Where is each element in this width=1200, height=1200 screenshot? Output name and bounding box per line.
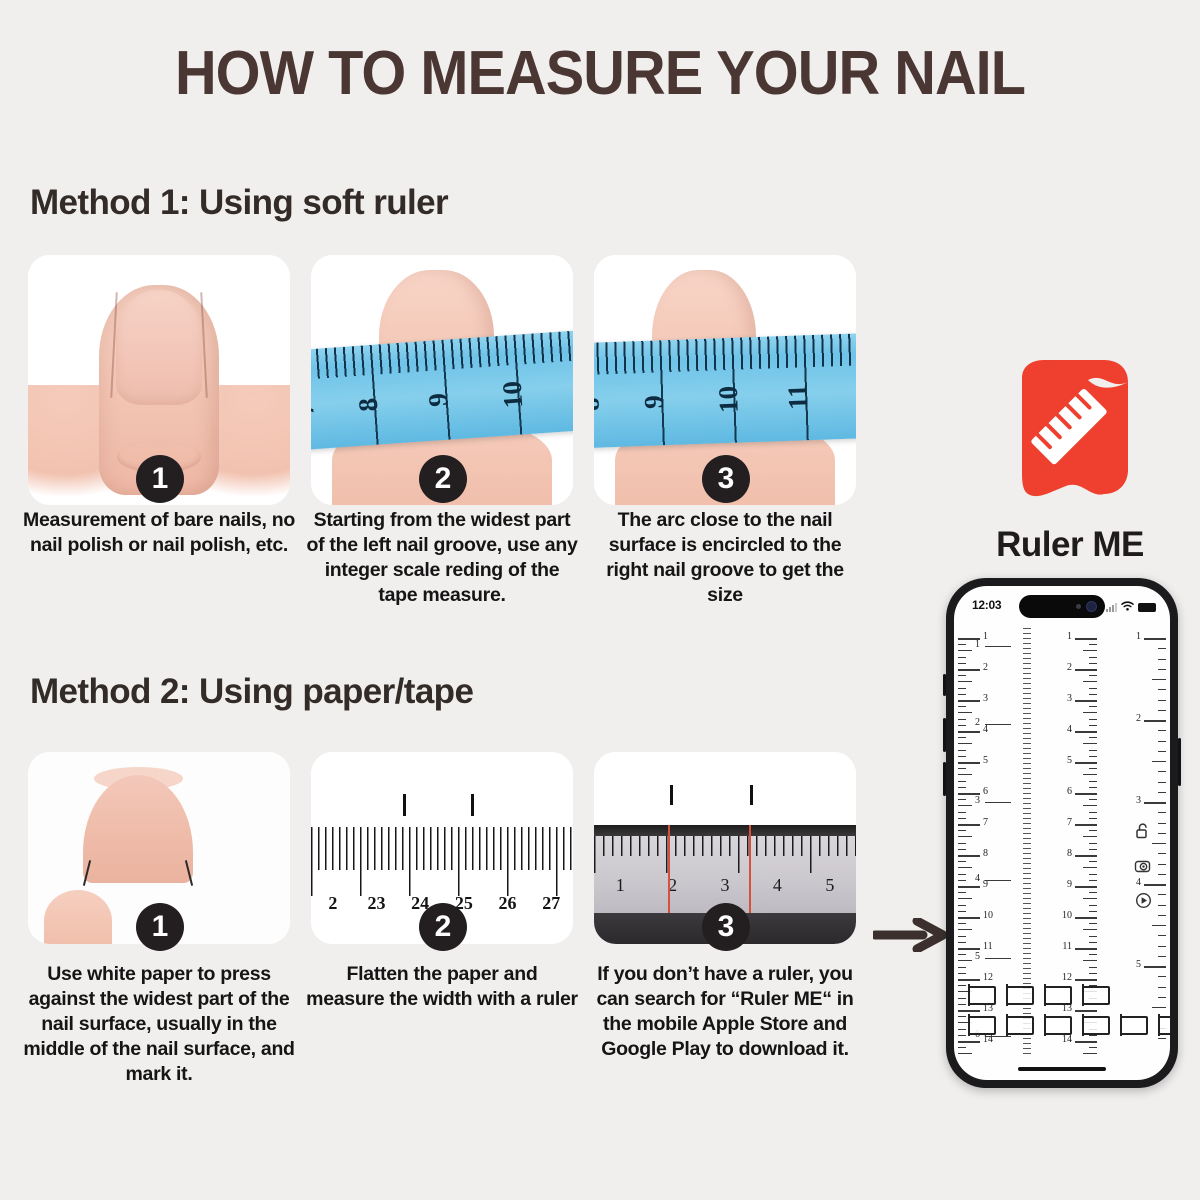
- ruler-minor-tick: [958, 1004, 966, 1005]
- right-arrow-icon: [873, 918, 953, 952]
- ruler-minor-tick: [1158, 812, 1166, 813]
- ruler-minor-tick: [1152, 679, 1166, 680]
- phone-volume-down-button[interactable]: [943, 762, 946, 796]
- ruler-minor-tick: [958, 706, 966, 707]
- ruler-minor-tick: [1089, 818, 1097, 819]
- ruler-major-tick: [958, 1041, 980, 1043]
- dynamic-island: [1019, 595, 1105, 618]
- ruler-number: 6: [983, 786, 988, 797]
- ruler-minor-tick: [958, 768, 966, 769]
- status-bar-indicators: [1106, 598, 1156, 616]
- ruler-number: 10: [983, 910, 993, 921]
- method-2-step-1-caption: Use white paper to press against the wid…: [23, 962, 295, 1087]
- ruler-minor-tick: [1158, 853, 1166, 854]
- ruler-major-tick: [1075, 1041, 1097, 1043]
- ruler-number: 6: [1067, 786, 1072, 797]
- ruler-minor-tick: [1089, 694, 1097, 695]
- ruler-minor-tick: [958, 1047, 966, 1048]
- ruler-minor-tick: [958, 849, 966, 850]
- ruler-minor-tick: [1158, 1038, 1166, 1039]
- ruler-minor-tick: [958, 663, 966, 664]
- ruler-minor-tick: [958, 812, 966, 813]
- phone-screen[interactable]: 12:03 1234567891011121314 12345678910111…: [954, 586, 1170, 1080]
- ruler-minor-tick: [1083, 960, 1097, 961]
- ruler-number: 4: [751, 875, 803, 896]
- ruler-minor-tick: [1089, 942, 1097, 943]
- ruler-major-tick: [1075, 917, 1097, 919]
- ruler-major-tick: [958, 669, 980, 671]
- battery-icon: [1138, 603, 1156, 612]
- ruler-minor-tick: [1152, 843, 1166, 844]
- measurement-widget-row-top[interactable]: [968, 986, 1110, 1005]
- ruler-minor-tick: [1158, 792, 1166, 793]
- poster-root: HOW TO MEASURE YOUR NAIL Method 1: Using…: [0, 0, 1200, 1200]
- ruler-number: 1: [1136, 631, 1141, 642]
- ruler-minor-tick: [958, 936, 966, 937]
- ruler-major-tick: [958, 731, 980, 733]
- ruler-major-tick: [958, 855, 980, 857]
- ruler-major-tick: [985, 1036, 1011, 1037]
- ruler-minor-tick: [958, 719, 966, 720]
- ruler-minor-tick: [1152, 1007, 1166, 1008]
- ruler-number: 27: [529, 893, 573, 914]
- ruler-minor-tick: [958, 905, 966, 906]
- page-title: HOW TO MEASURE YOUR NAIL: [42, 38, 1158, 109]
- ruler-number: 23: [355, 893, 399, 914]
- ruler-minor-tick: [1083, 712, 1097, 713]
- metal-ruler-numbers: 12345: [594, 875, 856, 896]
- ruler-number: 3: [975, 795, 980, 806]
- ruler-minor-tick: [958, 681, 972, 682]
- ruler-minor-tick: [958, 985, 966, 986]
- camera-icon[interactable]: [1134, 858, 1152, 879]
- ruler-minor-tick: [1089, 911, 1097, 912]
- ruler-minor-tick: [958, 954, 966, 955]
- ruler-number: 5: [1136, 959, 1141, 970]
- ruler-major-tick: [1075, 700, 1097, 702]
- ruler-minor-tick: [1158, 659, 1166, 660]
- ruler-number: 2: [646, 875, 698, 896]
- ruler-minor-tick: [958, 836, 972, 837]
- ruler-minor-tick: [1089, 861, 1097, 862]
- ruler-minor-tick: [1089, 830, 1097, 831]
- ruler-minor-tick: [958, 911, 966, 912]
- phone-power-button[interactable]: [1178, 738, 1181, 786]
- ruler-minor-tick: [1083, 867, 1097, 868]
- ruler-number: 7: [1067, 817, 1072, 828]
- ruler-minor-tick: [958, 861, 966, 862]
- ruler-minor-tick: [1089, 768, 1097, 769]
- ruler-minor-tick: [1158, 771, 1166, 772]
- ruler-minor-tick: [958, 799, 966, 800]
- ruler-minor-tick: [1089, 725, 1097, 726]
- ruler-number: 9: [1067, 879, 1072, 890]
- ruler-major-tick: [985, 646, 1011, 647]
- ruler-minor-tick: [1089, 936, 1097, 937]
- ruler-minor-tick: [958, 867, 972, 868]
- ruler-major-tick: [958, 762, 980, 764]
- ruler-minor-tick: [958, 756, 966, 757]
- ruler-minor-tick: [1158, 833, 1166, 834]
- ruler-minor-tick: [958, 781, 966, 782]
- ruler-minor-tick: [1089, 812, 1097, 813]
- ruler-minor-tick: [1158, 741, 1166, 742]
- method-1-step-1-caption: Measurement of bare nails, no nail polis…: [23, 508, 295, 558]
- step-badge-2: 2: [419, 455, 467, 503]
- ruler-number: 8: [983, 848, 988, 859]
- ruler-number: 11: [983, 941, 993, 952]
- ruler-major-tick: [1075, 793, 1097, 795]
- ruler-minor-tick: [958, 830, 966, 831]
- ruler-number: 5: [983, 755, 988, 766]
- ruler-minor-tick: [1089, 737, 1097, 738]
- cellular-signal-icon: [1106, 603, 1117, 612]
- ruler-number: 14: [1062, 1034, 1072, 1045]
- ruler-major-tick: [1144, 966, 1166, 968]
- ruler-minor-tick: [958, 725, 966, 726]
- ruler-minor-tick: [958, 750, 966, 751]
- ruler-minor-tick: [958, 787, 966, 788]
- ruler-minor-tick: [958, 892, 966, 893]
- step-badge-3: 3: [702, 455, 750, 503]
- ruler-minor-tick: [1089, 688, 1097, 689]
- ruler-number: 3: [1067, 693, 1072, 704]
- ruler-number: 7: [983, 817, 988, 828]
- ruler-minor-tick: [958, 929, 972, 930]
- ruler-minor-tick: [1158, 997, 1166, 998]
- ruler-minor-tick: [958, 967, 966, 968]
- ruler-major-tick: [1075, 638, 1097, 640]
- ruler-number: 1: [1067, 631, 1072, 642]
- ruler-minor-tick: [1089, 892, 1097, 893]
- ruler-minor-tick: [1089, 719, 1097, 720]
- ruler-number: 12: [983, 972, 993, 983]
- ruler-minor-tick: [958, 898, 972, 899]
- play-icon[interactable]: [1135, 892, 1152, 914]
- ruler-number: 1: [975, 639, 980, 650]
- ruler-major-tick: [1075, 855, 1097, 857]
- ruler-number: 5: [804, 875, 856, 896]
- ruler-major-tick: [958, 700, 980, 702]
- ruler-major-tick: [985, 724, 1011, 725]
- ruler-number: 2: [975, 717, 980, 728]
- ruler-minor-tick: [1089, 849, 1097, 850]
- ruler-major-tick: [958, 979, 980, 981]
- ruler-minor-tick: [1089, 706, 1097, 707]
- ruler-minor-tick: [1089, 756, 1097, 757]
- ruler-minor-tick: [958, 880, 966, 881]
- ruler-minor-tick: [1083, 929, 1097, 930]
- ruler-minor-tick: [958, 942, 966, 943]
- ruler-minor-tick: [958, 818, 966, 819]
- ruler-major-tick: [1144, 638, 1166, 640]
- phone-mockup: 12:03 1234567891011121314 12345678910111…: [946, 578, 1178, 1088]
- ruler-major-tick: [958, 948, 980, 950]
- ruler-minor-tick: [1158, 956, 1166, 957]
- ruler-number: 5: [1067, 755, 1072, 766]
- unlock-icon[interactable]: [1135, 822, 1152, 845]
- method-2-heading: Method 2: Using paper/tape: [30, 672, 473, 712]
- method-2-step-3-caption: If you don’t have a ruler, you can searc…: [589, 962, 861, 1062]
- ruler-minor-tick: [958, 960, 972, 961]
- ruler-minor-tick: [958, 650, 972, 651]
- ruler-number: 1: [983, 631, 988, 642]
- ruler-minor-tick: [1152, 761, 1166, 762]
- ruler-minor-tick: [1089, 923, 1097, 924]
- ruler-major-tick: [958, 886, 980, 888]
- step-badge-1: 1: [136, 903, 184, 951]
- ruler-minor-tick: [1158, 987, 1166, 988]
- ruler-minor-tick: [958, 874, 966, 875]
- ruler-minor-tick: [1158, 669, 1166, 670]
- ruler-number: 3: [983, 693, 988, 704]
- ruler-minor-tick: [1158, 700, 1166, 701]
- ruler-minor-tick: [1158, 946, 1166, 947]
- ruler-minor-tick: [958, 688, 966, 689]
- ruler-major-tick: [985, 880, 1011, 881]
- ruler-minor-tick: [958, 843, 966, 844]
- ruler-minor-tick: [1089, 905, 1097, 906]
- step-badge-3: 3: [702, 903, 750, 951]
- ruler-major-tick: [958, 824, 980, 826]
- ruler-minor-tick: [1158, 915, 1166, 916]
- ruler-minor-tick: [1089, 880, 1097, 881]
- ruler-major-tick: [1075, 762, 1097, 764]
- ruler-number: 11: [1062, 941, 1072, 952]
- ruler-major-tick: [1075, 669, 1097, 671]
- method-2-step-2-caption: Flatten the paper and measure the width …: [306, 962, 578, 1012]
- ruler-minor-tick: [958, 1053, 972, 1054]
- ruler-minor-tick: [1158, 689, 1166, 690]
- ruler-minor-tick: [1083, 774, 1097, 775]
- ruler-app-icon[interactable]: [992, 352, 1146, 506]
- ruler-minor-tick: [1089, 781, 1097, 782]
- ruler-number: 2: [1136, 713, 1141, 724]
- ruler-minor-tick: [1158, 864, 1166, 865]
- ruler-minor-tick: [1083, 650, 1097, 651]
- ruler-minor-tick: [1089, 874, 1097, 875]
- ruler-minor-tick: [1089, 787, 1097, 788]
- phone-tool-icons[interactable]: [1134, 822, 1152, 914]
- ruler-number: 3: [1136, 795, 1141, 806]
- ruler-major-tick: [1144, 802, 1166, 804]
- ruler-minor-tick: [958, 923, 966, 924]
- ruler-minor-tick: [1083, 898, 1097, 899]
- ruler-major-tick: [985, 802, 1011, 803]
- ruler-minor-tick: [958, 675, 966, 676]
- method-1-step-2-caption: Starting from the widest part of the lef…: [306, 508, 578, 608]
- ruler-number: 12: [1062, 972, 1072, 983]
- ruler-minor-tick: [1089, 954, 1097, 955]
- ruler-number: 10: [1062, 910, 1072, 921]
- ruler-minor-tick: [958, 1016, 966, 1017]
- ruler-major-tick: [985, 958, 1011, 959]
- ruler-minor-tick: [1089, 1047, 1097, 1048]
- ruler-number: 26: [486, 893, 530, 914]
- ruler-minor-tick: [1083, 681, 1097, 682]
- ruler-major-tick: [958, 917, 980, 919]
- phone-volume-up-button[interactable]: [943, 718, 946, 752]
- ruler-minor-tick: [1158, 648, 1166, 649]
- ruler-major-tick: [1075, 948, 1097, 950]
- ruler-minor-tick: [1083, 805, 1097, 806]
- ruler-minor-tick: [1158, 730, 1166, 731]
- ruler-minor-tick: [958, 998, 966, 999]
- app-name-label: Ruler ME: [960, 525, 1180, 565]
- home-indicator[interactable]: [1018, 1067, 1106, 1071]
- ruler-number: 3: [699, 875, 751, 896]
- ruler-minor-tick: [958, 737, 966, 738]
- ruler-number: 8: [1067, 848, 1072, 859]
- ruler-minor-tick: [1158, 905, 1166, 906]
- ruler-number: 1: [594, 875, 646, 896]
- wifi-icon: [1121, 598, 1134, 616]
- step-badge-2: 2: [419, 903, 467, 951]
- ruler-minor-tick: [958, 805, 972, 806]
- ruler-major-tick: [1075, 731, 1097, 733]
- status-bar-time: 12:03: [972, 598, 1001, 612]
- ruler-major-tick: [1075, 886, 1097, 888]
- ruler-minor-tick: [958, 694, 966, 695]
- ruler-minor-tick: [958, 1029, 966, 1030]
- ruler-major-tick: [1075, 979, 1097, 981]
- ruler-minor-tick: [1083, 836, 1097, 837]
- method-1-heading: Method 1: Using soft ruler: [30, 183, 448, 223]
- ruler-major-tick: [958, 1010, 980, 1012]
- ruler-minor-tick: [1089, 663, 1097, 664]
- ruler-major-tick: [1075, 1010, 1097, 1012]
- ruler-minor-tick: [958, 657, 966, 658]
- ruler-number: 4: [983, 724, 988, 735]
- ruler-number: 2: [983, 662, 988, 673]
- ruler-minor-tick: [1083, 1053, 1097, 1054]
- ruler-number: 4: [1067, 724, 1072, 735]
- ruler-minor-tick: [1089, 967, 1097, 968]
- ruler-minor-tick: [1152, 925, 1166, 926]
- phone-mute-button[interactable]: [943, 674, 946, 696]
- ruler-minor-tick: [1083, 743, 1097, 744]
- ruler-major-tick: [1075, 824, 1097, 826]
- ruler-minor-tick: [1089, 843, 1097, 844]
- ruler-minor-tick: [958, 1035, 966, 1036]
- ruler-minor-tick: [1089, 750, 1097, 751]
- ruler-minor-tick: [1158, 710, 1166, 711]
- ruler-minor-tick: [1158, 751, 1166, 752]
- ruler-minor-tick: [1158, 894, 1166, 895]
- ruler-minor-tick: [958, 774, 972, 775]
- ruler-number: 2: [1067, 662, 1072, 673]
- ruler-minor-tick: [958, 712, 972, 713]
- ruler-minor-tick: [1089, 973, 1097, 974]
- ruler-number: 2: [311, 893, 355, 914]
- method-1-step-3-caption: The arc close to the nail surface is enc…: [589, 508, 861, 608]
- step-badge-1: 1: [136, 455, 184, 503]
- ruler-minor-tick: [958, 973, 966, 974]
- ruler-number: 5: [975, 951, 980, 962]
- ruler-minor-tick: [1089, 657, 1097, 658]
- ruler-minor-tick: [1158, 976, 1166, 977]
- ruler-minor-tick: [958, 743, 972, 744]
- ruler-minor-tick: [1089, 675, 1097, 676]
- ruler-minor-tick: [958, 644, 966, 645]
- ruler-major-tick: [1144, 720, 1166, 722]
- ruler-minor-tick: [1089, 799, 1097, 800]
- ruler-number: 4: [975, 873, 980, 884]
- ruler-minor-tick: [1158, 782, 1166, 783]
- ruler-minor-tick: [1158, 874, 1166, 875]
- ruler-minor-tick: [1158, 823, 1166, 824]
- measurement-widget-row-bottom[interactable]: [968, 1016, 1170, 1035]
- ruler-minor-tick: [1089, 644, 1097, 645]
- ruler-minor-tick: [1158, 935, 1166, 936]
